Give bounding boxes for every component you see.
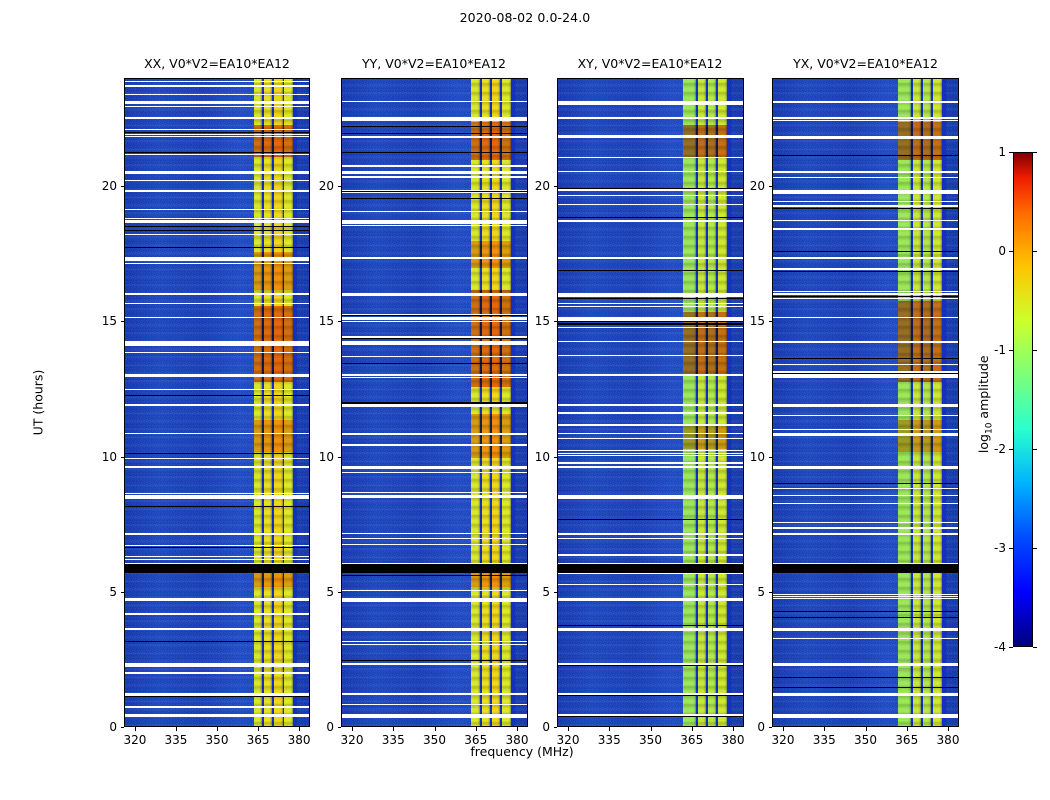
flagged-time-row <box>125 495 309 499</box>
x-tick-mark <box>435 727 436 731</box>
flagged-time-row <box>558 424 743 426</box>
flagged-time-row <box>558 306 743 307</box>
y-tick-label: 0 <box>293 721 334 733</box>
flagged-time-row <box>125 154 309 155</box>
y-tick-label: 0 <box>724 721 765 733</box>
flagged-time-row <box>558 584 743 585</box>
flagged-time-row <box>342 165 527 167</box>
flagged-time-row <box>773 663 958 666</box>
y-tick-label: 20 <box>724 180 765 192</box>
flagged-time-row <box>125 293 309 295</box>
flagged-time-row <box>773 228 958 230</box>
flagged-time-row <box>773 364 958 365</box>
flagged-time-row <box>773 628 958 630</box>
flagged-time-row <box>773 317 958 318</box>
flagged-time-row <box>125 533 309 534</box>
y-tick-label: 10 <box>293 451 334 463</box>
zeroed-time-row <box>558 695 743 696</box>
zeroed-time-row <box>342 191 527 192</box>
flagged-time-row <box>342 293 527 296</box>
y-tick-label: 15 <box>509 315 550 327</box>
x-tick-mark <box>651 727 652 731</box>
figure-canvas: 2020-08-02 0.0-24.0 XX, V0*V2=EA10*EA12 … <box>0 0 1050 800</box>
colorbar-tick-label: 0 <box>965 245 1006 257</box>
spectrogram-panel-yx[interactable] <box>772 78 959 727</box>
flagged-time-row <box>125 218 309 219</box>
x-tick-mark <box>568 727 569 731</box>
flagged-time-row <box>773 533 958 535</box>
flagged-time-row <box>125 257 309 261</box>
flagged-time-row <box>773 503 958 504</box>
x-tick-mark <box>135 727 136 731</box>
flagged-time-row <box>342 257 527 259</box>
panel-title-yy: YY, V0*V2=EA10*EA12 <box>341 56 527 74</box>
flagged-time-row <box>773 298 958 299</box>
blackout-time-band <box>773 564 958 572</box>
x-tick-mark <box>352 727 353 731</box>
rfi-hot-interval <box>683 125 727 157</box>
flagged-time-row <box>558 136 743 138</box>
flagged-time-row <box>558 466 743 468</box>
flagged-time-row <box>773 268 958 270</box>
spectrogram-image-yx <box>773 79 958 726</box>
colorbar-tick-mark <box>1033 350 1037 351</box>
x-tick-mark <box>476 727 477 731</box>
flagged-time-row <box>773 598 958 599</box>
colorbar-tick-label: -3 <box>965 542 1006 554</box>
flagged-time-row <box>342 533 527 534</box>
flagged-time-row <box>773 220 958 221</box>
flagged-time-row <box>558 135 743 136</box>
zeroed-time-row <box>125 696 309 697</box>
flagged-time-row <box>773 495 958 496</box>
flagged-time-row <box>558 463 743 464</box>
zeroed-time-row <box>773 611 958 612</box>
y-tick-label: 0 <box>509 721 550 733</box>
flagged-time-row <box>773 101 958 103</box>
blackout-time-band <box>342 564 527 572</box>
zeroed-time-row <box>125 132 309 133</box>
flagged-time-row <box>342 211 527 212</box>
x-tick-mark <box>824 727 825 731</box>
flagged-time-row <box>342 598 527 602</box>
flagged-time-row <box>342 538 527 539</box>
flagged-time-row <box>125 171 309 174</box>
flagged-time-row <box>558 171 743 172</box>
flagged-time-row <box>125 101 309 104</box>
colorbar-tick-label: -1 <box>965 344 1006 356</box>
zeroed-time-row <box>125 247 309 248</box>
flagged-time-row <box>558 554 743 556</box>
zeroed-time-row <box>558 716 743 717</box>
zeroed-time-row <box>773 373 958 374</box>
zeroed-time-row <box>773 617 958 618</box>
x-tick-mark <box>907 727 908 731</box>
colorbar-tick-label: 1 <box>965 146 1006 158</box>
flagged-time-row <box>558 303 743 304</box>
flagged-time-row <box>558 257 743 259</box>
y-tick-mark <box>121 186 125 187</box>
flagged-time-row <box>125 85 309 87</box>
zeroed-time-row <box>773 251 958 252</box>
flagged-time-row <box>773 404 958 407</box>
zeroed-time-row <box>558 270 743 271</box>
colorbar-tick-mark <box>1009 548 1013 549</box>
flagged-time-row <box>125 317 309 318</box>
x-tick-mark <box>176 727 177 731</box>
zeroed-time-row <box>773 271 958 272</box>
flagged-time-row <box>125 493 309 494</box>
y-tick-mark <box>121 457 125 458</box>
flagged-time-row <box>342 693 527 695</box>
flagged-time-row <box>125 628 309 630</box>
flagged-time-row <box>773 693 958 696</box>
flagged-time-row <box>125 106 309 107</box>
x-tick-mark <box>866 727 867 731</box>
flagged-time-row <box>342 590 527 591</box>
flagged-time-row <box>773 120 958 121</box>
flagged-time-row <box>125 613 309 615</box>
y-tick-mark <box>554 457 558 458</box>
y-tick-mark <box>121 727 125 728</box>
panel-title-xx: XX, V0*V2=EA10*EA12 <box>124 56 310 74</box>
y-tick-mark <box>338 457 342 458</box>
flagged-time-row <box>773 205 958 207</box>
zeroed-time-row <box>773 296 958 297</box>
y-tick-label: 0 <box>76 721 117 733</box>
y-tick-label: 20 <box>293 180 334 192</box>
y-tick-label: 15 <box>293 315 334 327</box>
flagged-time-row <box>342 377 527 378</box>
y-tick-label: 5 <box>76 586 117 598</box>
zeroed-time-row <box>773 483 958 484</box>
y-tick-mark <box>121 321 125 322</box>
flagged-time-row <box>773 466 958 469</box>
panel-title-yx: YX, V0*V2=EA10*EA12 <box>772 56 959 74</box>
zeroed-time-row <box>773 677 958 678</box>
y-tick-mark <box>554 186 558 187</box>
flagged-time-row <box>125 136 309 137</box>
flagged-time-row <box>773 171 958 173</box>
flagged-time-row <box>773 190 958 194</box>
flagged-time-row <box>125 117 309 119</box>
y-tick-label: 15 <box>724 315 765 327</box>
flagged-time-row <box>773 488 958 489</box>
y-tick-label: 5 <box>509 586 550 598</box>
y-tick-mark <box>769 186 773 187</box>
flagged-time-row <box>125 129 309 130</box>
flagged-time-row <box>773 429 958 430</box>
flagged-time-row <box>342 225 527 226</box>
flagged-time-row <box>558 204 743 205</box>
y-tick-mark <box>121 592 125 593</box>
flagged-time-row <box>125 209 309 210</box>
colorbar-tick-mark <box>1033 152 1037 153</box>
colorbar-tick-mark <box>1033 548 1037 549</box>
flagged-time-row <box>342 704 527 705</box>
flagged-time-row <box>342 544 527 545</box>
y-tick-label: 5 <box>293 586 334 598</box>
spectrogram-image-yy <box>342 79 527 726</box>
flagged-time-row <box>342 356 527 357</box>
zeroed-time-row <box>342 152 527 153</box>
flagged-time-row <box>125 345 309 346</box>
rfi-hot-interval <box>471 414 511 457</box>
colorbar <box>1013 152 1033 647</box>
x-tick-mark <box>393 727 394 731</box>
zeroed-time-row <box>342 403 527 404</box>
x-tick-label: 380 <box>708 734 758 746</box>
flagged-time-row <box>558 103 743 104</box>
x-tick-label: 380 <box>274 734 324 746</box>
blackout-time-band <box>558 564 743 572</box>
y-tick-label: 15 <box>76 315 117 327</box>
x-tick-mark <box>609 727 610 731</box>
flagged-time-row <box>125 389 309 390</box>
flagged-time-row <box>125 706 309 708</box>
zeroed-time-row <box>125 395 309 396</box>
zeroed-time-row <box>342 198 527 199</box>
zeroed-time-row <box>125 547 309 548</box>
flagged-time-row <box>342 176 527 178</box>
flagged-time-row <box>125 220 309 223</box>
flagged-time-row <box>773 341 958 343</box>
spectrogram-image-xy <box>558 79 743 726</box>
x-tick-label: 380 <box>923 734 973 746</box>
flagged-time-row <box>342 714 527 718</box>
flagged-time-row <box>558 195 743 196</box>
flagged-time-row <box>342 406 527 407</box>
flagged-time-row <box>558 453 743 454</box>
zeroed-time-row <box>558 217 743 218</box>
flagged-time-row <box>342 341 527 342</box>
flagged-time-row <box>342 171 527 172</box>
flagged-time-row <box>773 177 958 178</box>
flagged-time-row <box>125 374 309 377</box>
colorbar-tick-mark <box>1033 251 1037 252</box>
flagged-time-row <box>125 134 309 135</box>
flagged-time-row <box>342 321 527 322</box>
flagged-time-row <box>125 433 309 434</box>
figure-suptitle: 2020-08-02 0.0-24.0 <box>0 10 1050 25</box>
flagged-time-row <box>342 117 527 121</box>
colorbar-tick-mark <box>1033 449 1037 450</box>
flagged-time-row <box>125 263 309 264</box>
y-tick-mark <box>554 727 558 728</box>
colorbar-tick-mark <box>1033 647 1037 648</box>
flagged-time-row <box>125 352 309 353</box>
flagged-time-row <box>558 538 743 539</box>
flagged-time-row <box>558 117 743 119</box>
zeroed-time-row <box>773 687 958 688</box>
flagged-time-row <box>342 374 527 376</box>
flagged-time-row <box>558 433 743 434</box>
y-tick-mark <box>769 457 773 458</box>
spectrogram-panel-xy[interactable] <box>557 78 744 727</box>
flagged-time-row <box>773 527 958 529</box>
zeroed-time-row <box>342 575 527 576</box>
y-tick-mark <box>338 321 342 322</box>
y-tick-mark <box>769 321 773 322</box>
flagged-time-row <box>342 492 527 493</box>
x-tick-mark <box>948 727 949 731</box>
y-axis-label: UT (hours) <box>31 343 46 463</box>
x-tick-mark <box>692 727 693 731</box>
zeroed-time-row <box>342 660 527 661</box>
zeroed-time-row <box>125 230 309 231</box>
flagged-time-row <box>773 717 958 718</box>
colorbar-label-sub: 10 <box>984 423 994 434</box>
flagged-time-row <box>125 672 309 674</box>
y-tick-label: 20 <box>509 180 550 192</box>
spectrogram-panel-xx[interactable] <box>124 78 310 727</box>
flagged-time-row <box>125 663 309 667</box>
flagged-time-row <box>125 466 309 468</box>
flagged-time-row <box>125 458 309 459</box>
y-tick-label: 10 <box>724 451 765 463</box>
rfi-hot-interval <box>254 420 294 452</box>
flagged-time-row <box>558 438 743 439</box>
x-tick-label: 380 <box>492 734 542 746</box>
flagged-time-row <box>342 136 527 138</box>
blackout-time-band <box>125 564 309 572</box>
flagged-time-row <box>558 157 743 158</box>
y-tick-label: 5 <box>724 586 765 598</box>
flagged-time-row <box>342 630 527 631</box>
flagged-time-row <box>342 663 527 665</box>
rfi-hot-interval <box>471 241 511 268</box>
colorbar-tick-mark <box>1009 647 1013 648</box>
flagged-time-row <box>342 641 527 642</box>
y-tick-mark <box>338 186 342 187</box>
flagged-time-row <box>558 412 743 414</box>
flagged-time-row <box>773 293 958 295</box>
flagged-time-row <box>342 472 527 473</box>
flagged-time-row <box>558 404 743 406</box>
spectrogram-panel-yy[interactable] <box>341 78 528 727</box>
flagged-time-row <box>125 94 309 95</box>
zeroed-time-row <box>558 665 743 666</box>
flagged-time-row <box>125 559 309 560</box>
flagged-time-row <box>558 341 743 342</box>
flagged-time-row <box>773 117 958 119</box>
flagged-time-row <box>558 355 743 356</box>
flagged-time-row <box>773 433 958 436</box>
flagged-time-row <box>773 522 958 523</box>
zeroed-time-row <box>342 126 527 127</box>
colorbar-tick-label: -4 <box>965 641 1006 653</box>
zeroed-time-row <box>558 321 743 322</box>
flagged-time-row <box>773 201 958 202</box>
zeroed-time-row <box>558 324 743 325</box>
zeroed-time-row <box>125 453 309 454</box>
flagged-time-row <box>773 291 958 292</box>
flagged-time-row <box>558 462 743 463</box>
y-tick-label: 10 <box>76 451 117 463</box>
flagged-time-row <box>773 138 958 139</box>
zeroed-time-row <box>558 519 743 520</box>
flagged-time-row <box>558 450 743 451</box>
zeroed-time-row <box>773 208 958 209</box>
x-tick-mark <box>258 727 259 731</box>
zeroed-time-row <box>558 188 743 189</box>
y-tick-label: 10 <box>509 451 550 463</box>
flagged-time-row <box>125 404 309 406</box>
flagged-time-row <box>342 220 527 224</box>
flagged-time-row <box>558 189 743 190</box>
flagged-time-row <box>558 374 743 376</box>
zeroed-time-row <box>125 506 309 507</box>
flagged-time-row <box>125 234 309 235</box>
flagged-time-row <box>773 638 958 639</box>
zeroed-time-row <box>558 298 743 299</box>
flagged-time-row <box>125 180 309 181</box>
zeroed-time-row <box>342 402 527 403</box>
rfi-hot-interval <box>471 122 511 160</box>
flagged-time-row <box>773 257 958 259</box>
y-tick-mark <box>769 727 773 728</box>
colorbar-tick-mark <box>1009 350 1013 351</box>
colorbar-tick-label: -2 <box>965 443 1006 455</box>
y-tick-mark <box>338 592 342 593</box>
flagged-time-row <box>558 598 743 601</box>
flagged-time-row <box>558 497 743 498</box>
colorbar-tick-mark <box>1009 251 1013 252</box>
x-tick-mark <box>783 727 784 731</box>
flagged-time-row <box>125 714 309 717</box>
x-tick-mark <box>217 727 218 731</box>
flagged-time-row <box>125 598 309 601</box>
zeroed-time-row <box>342 133 527 134</box>
flagged-time-row <box>125 191 309 192</box>
flagged-time-row <box>125 303 309 304</box>
flagged-time-row <box>558 533 743 535</box>
flagged-time-row <box>125 556 309 557</box>
flagged-time-row <box>342 317 527 320</box>
zeroed-time-row <box>342 315 527 316</box>
zeroed-time-row <box>342 363 527 364</box>
flagged-time-row <box>342 495 527 497</box>
flagged-time-row <box>342 444 527 446</box>
flagged-time-row <box>558 327 743 328</box>
zeroed-time-row <box>125 641 309 642</box>
zeroed-time-row <box>125 226 309 227</box>
zeroed-time-row <box>558 625 743 626</box>
flagged-time-row <box>558 455 743 456</box>
zeroed-time-row <box>773 358 958 359</box>
panel-title-xy: XY, V0*V2=EA10*EA12 <box>557 56 743 74</box>
y-tick-label: 20 <box>76 180 117 192</box>
flagged-time-row <box>342 101 527 102</box>
y-tick-mark <box>338 727 342 728</box>
flagged-time-row <box>558 628 743 631</box>
y-tick-mark <box>554 592 558 593</box>
colorbar-label-rest: amplitude <box>976 355 991 422</box>
flagged-time-row <box>342 466 527 469</box>
zeroed-time-row <box>773 155 958 156</box>
zeroed-time-row <box>342 338 527 339</box>
colorbar-tick-mark <box>1009 449 1013 450</box>
y-tick-mark <box>769 592 773 593</box>
flagged-time-row <box>342 433 527 435</box>
flagged-time-row <box>773 374 958 378</box>
flagged-time-row <box>342 644 527 645</box>
flagged-time-row <box>558 220 743 222</box>
colorbar-tick-mark <box>1009 152 1013 153</box>
spectrogram-image-xx <box>125 79 309 726</box>
flagged-time-row <box>125 81 309 82</box>
flagged-time-row <box>773 415 958 416</box>
